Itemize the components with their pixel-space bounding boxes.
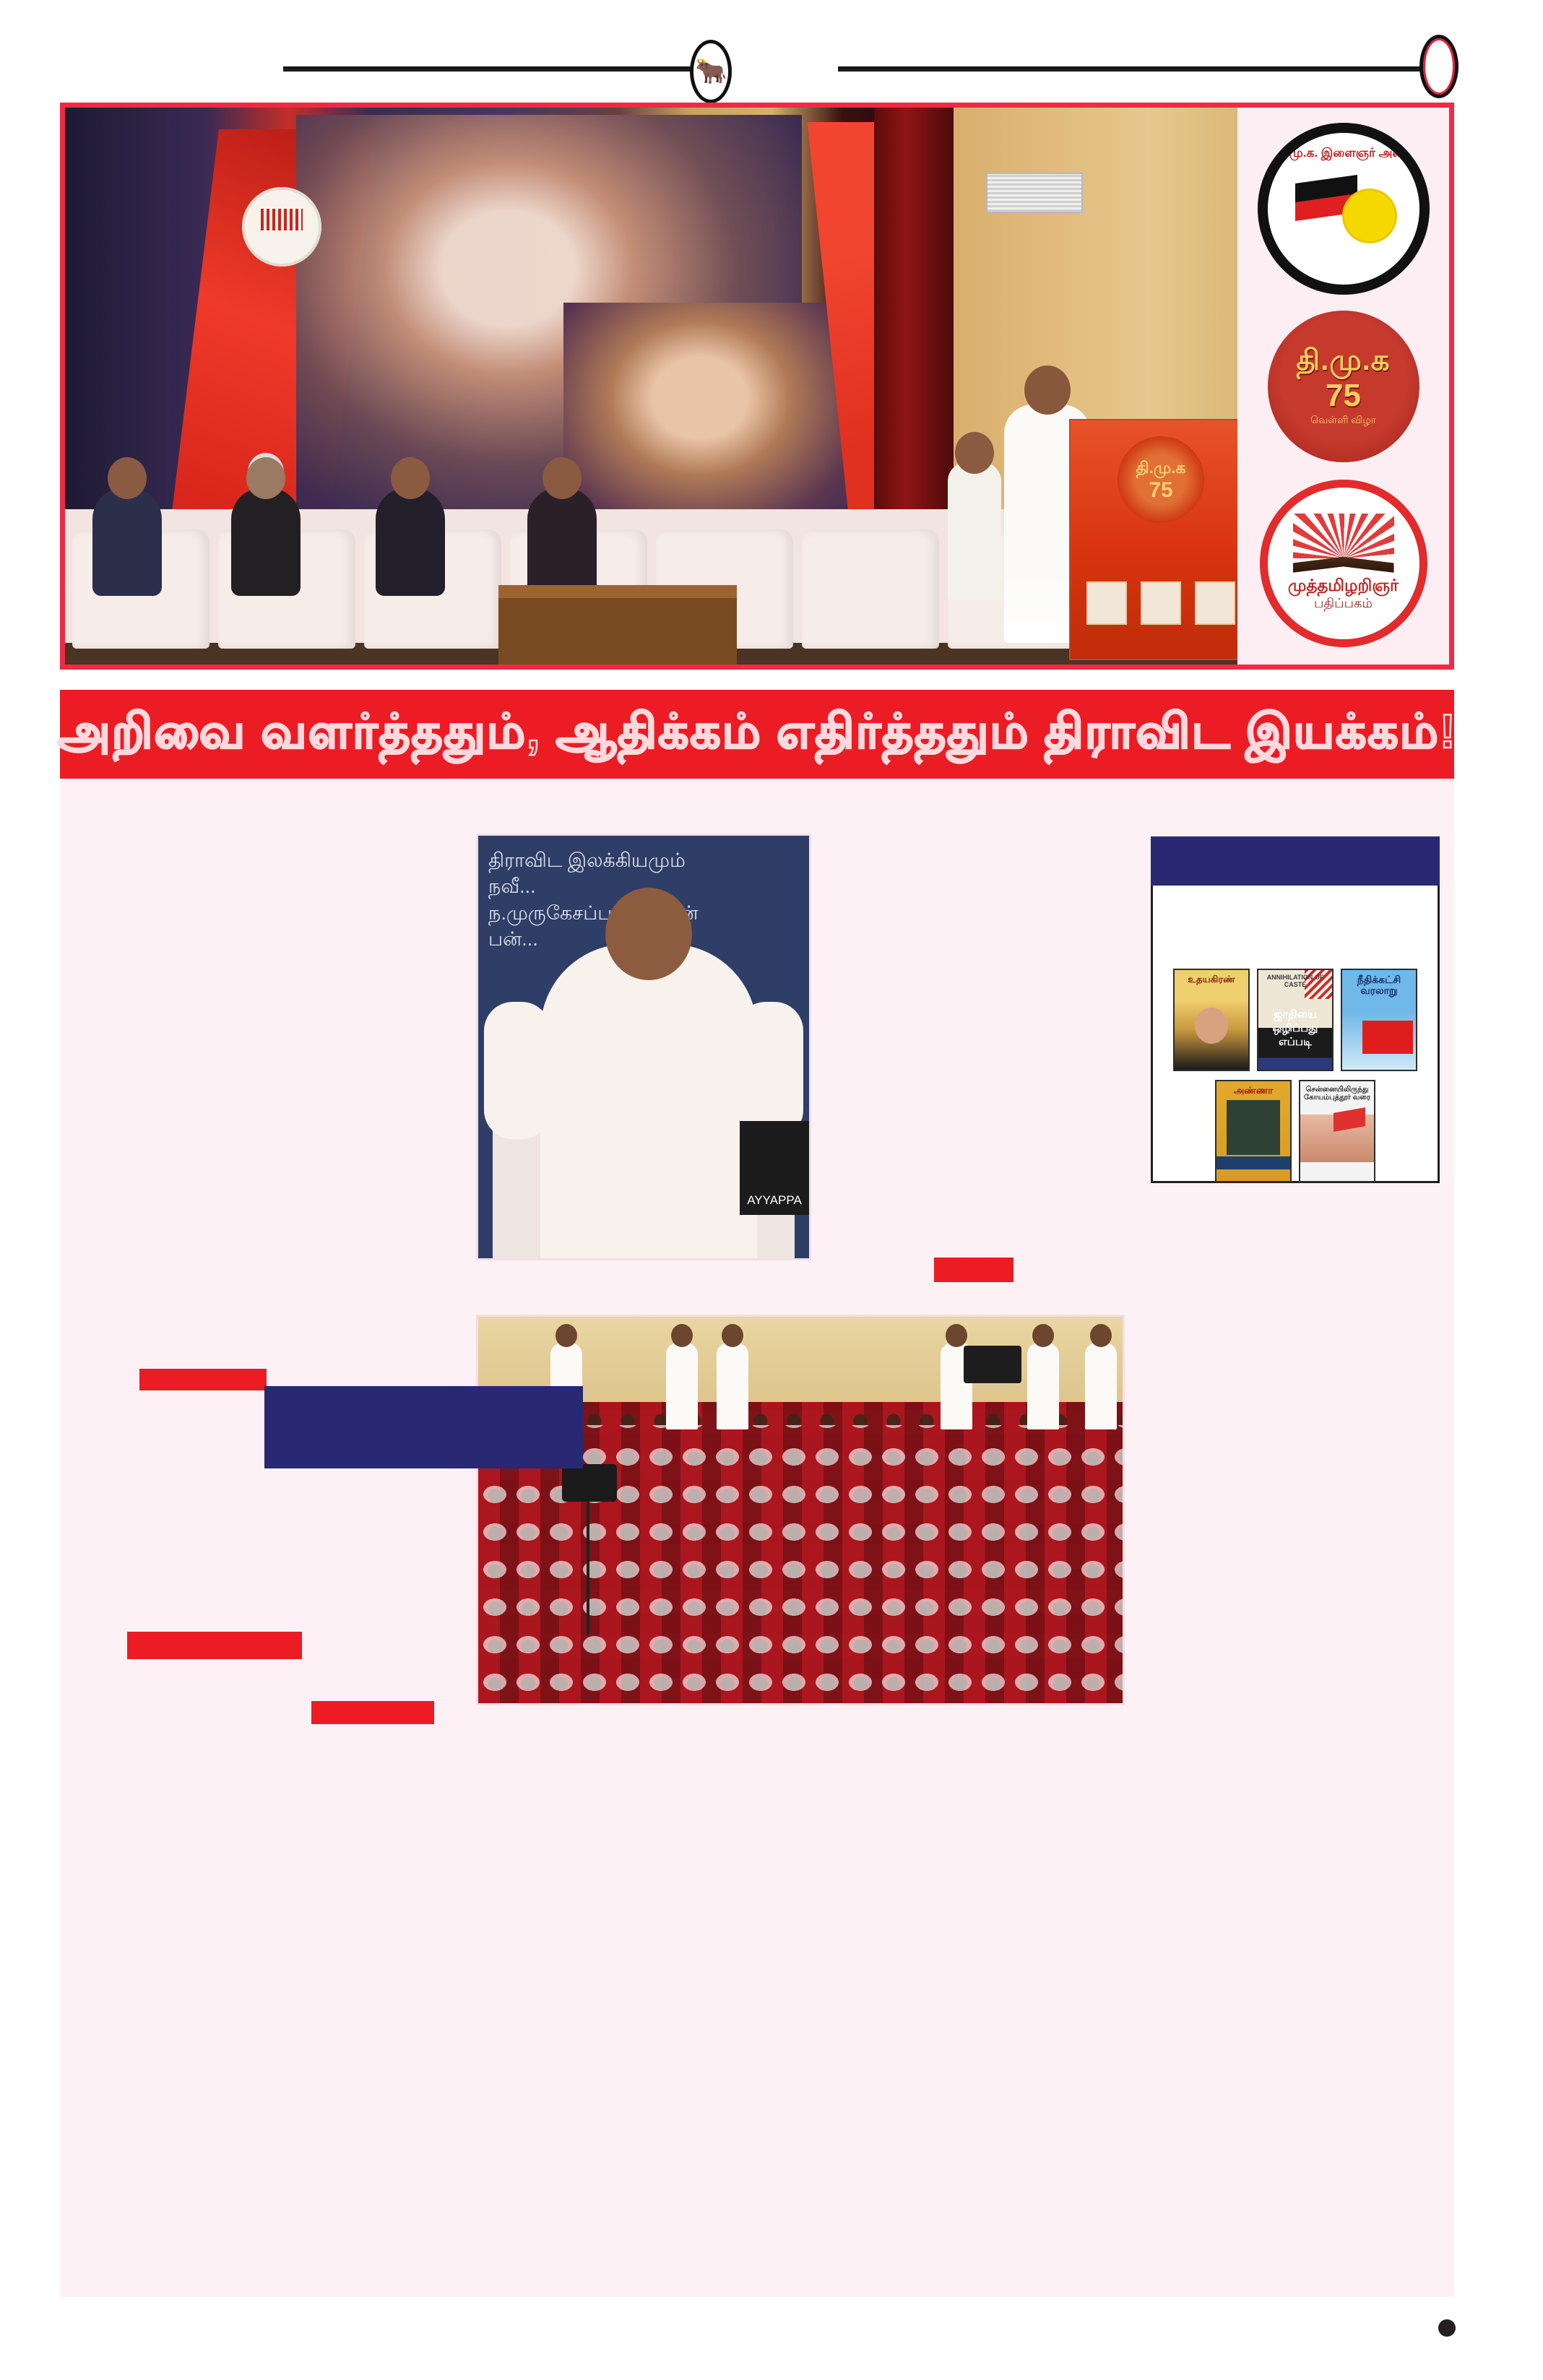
- book-title: உதயகிரண்: [1175, 974, 1248, 985]
- dmk-youth-wing-logo: தி.மு.க. இளைஞர் அணி: [1268, 133, 1419, 285]
- page-marker-dot: [1438, 2319, 1456, 2337]
- ac-vent-icon: [986, 173, 1083, 213]
- book-cover-image: [1227, 1100, 1280, 1155]
- stage-side-panel: AYYAPPA: [740, 1121, 809, 1215]
- photo-audience: [476, 1315, 1125, 1705]
- masthead-photo-frame: தி.மு.க 75 தி.மு.க. இளைஞர் அணி தி.மு.க 7…: [60, 103, 1454, 670]
- book-promo-card-header: [1151, 836, 1440, 886]
- dmk-75-logo-line3: வெள்ளி விழா: [1310, 414, 1376, 428]
- podium-emblem-line2: 75: [1149, 480, 1172, 501]
- standing-attendee: [1085, 1343, 1117, 1429]
- book-subtitle-strip: [1216, 1156, 1290, 1169]
- podium-emblem-line1: தி.மு.க: [1136, 459, 1186, 480]
- seated-dignitary: [527, 488, 597, 596]
- book-cover-row: அண்ணா சென்னையிலிருந்து கோயம்புத்தூர் வரை: [1153, 1080, 1438, 1182]
- book-cover-portrait: [1195, 1008, 1228, 1044]
- book-title: நீதிக்கட்சி வரலாறு: [1342, 974, 1416, 997]
- seated-dignitary: [92, 488, 162, 596]
- standing-attendee: [666, 1343, 698, 1429]
- publisher-logo-line1: முத்தமிழறிஞர்: [1268, 576, 1419, 597]
- podium-sponsor-logos: [1079, 581, 1242, 626]
- dmk-youth-wing-logo-text: தி.மு.க. இளைஞர் அணி: [1268, 146, 1419, 162]
- red-text-block-1: [934, 1258, 1013, 1282]
- backdrop-round-logo-icon: [242, 187, 321, 267]
- seated-person: [540, 944, 757, 1260]
- book-title: ANNIHILATION OF CASTE: [1258, 974, 1332, 989]
- red-flag-icon: [1362, 1021, 1413, 1054]
- book-cover-row: உதயகிரண் ANNIHILATION OF CASTE ஜாதியை ஒழ…: [1153, 969, 1438, 1071]
- stage-chair: [802, 529, 939, 649]
- sun-rays-icon: [1293, 514, 1394, 558]
- header-end-ornament-icon: [1419, 35, 1458, 98]
- headline-text: அறிவை வளர்த்ததும், ஆதிக்கம் எதிர்த்ததும்…: [57, 704, 1456, 766]
- podium-sponsor-logo-icon: [1141, 581, 1181, 625]
- red-text-block-2: [139, 1369, 267, 1390]
- armchair-arm-right: [737, 1002, 803, 1139]
- book-cover[interactable]: நீதிக்கட்சி வரலாறு: [1341, 969, 1417, 1071]
- publisher-logo-line2: பதிப்பகம்: [1268, 596, 1419, 613]
- dmk-75-logo: தி.மு.க 75 வெள்ளி விழா: [1268, 311, 1419, 462]
- blue-text-block-1: [264, 1386, 583, 1468]
- book-title: சென்னையிலிருந்து கோயம்புத்தூர் வரை: [1300, 1086, 1374, 1102]
- rising-sun-icon: [1344, 191, 1395, 241]
- dmk-75-logo-line1: தி.மு.க: [1297, 345, 1391, 381]
- newspaper-page: 🐂: [0, 0, 1543, 2380]
- standing-attendee: [1027, 1343, 1059, 1429]
- podium-sponsor-logo-icon: [1195, 581, 1235, 625]
- ceiling-speaker-icon: [964, 1346, 1021, 1383]
- book-promo-card: உதயகிரண் ANNIHILATION OF CASTE ஜாதியை ஒழ…: [1151, 836, 1440, 1183]
- book-cover[interactable]: அண்ணா: [1215, 1080, 1292, 1182]
- stage-side-panel-text: AYYAPPA: [747, 1193, 802, 1208]
- photo-seated-dignitary: திராவிட இலக்கியமும் நவீ... ந.முருகேசப்பா…: [476, 834, 811, 1260]
- stage-curtain: [874, 108, 954, 512]
- masthead-photo: தி.மு.க 75: [65, 108, 1242, 665]
- red-text-block-4: [311, 1701, 434, 1724]
- header-rule-right: [838, 66, 1438, 72]
- muthamizharignar-pathippagam-logo: முத்தமிழறிஞர் பதிப்பகம்: [1268, 488, 1419, 639]
- book-cover[interactable]: உதயகிரண்: [1173, 969, 1250, 1071]
- book-title: அண்ணா: [1216, 1086, 1290, 1096]
- article-body: திராவிட இலக்கியமும் நவீ... ந.முருகேசப்பா…: [60, 779, 1454, 2297]
- headline-banner: அறிவை வளர்த்ததும், ஆதிக்கம் எதிர்த்ததும்…: [60, 690, 1454, 779]
- book-cover[interactable]: சென்னையிலிருந்து கோயம்புத்தூர் வரை: [1299, 1080, 1375, 1182]
- masthead-logo-column: தி.மு.க. இளைஞர் அணி தி.மு.க 75 வெள்ளி வி…: [1237, 108, 1449, 665]
- camera-tripod-icon: [587, 1497, 589, 1635]
- standing-attendee: [948, 462, 1001, 600]
- page-top-ornament-bar: 🐂: [0, 0, 1543, 98]
- book-cover[interactable]: ANNIHILATION OF CASTE ஜாதியை ஒழிப்பது எப…: [1257, 969, 1334, 1071]
- red-text-block-3: [127, 1632, 302, 1659]
- bull-glyph: 🐂: [695, 59, 727, 84]
- stage-table: [498, 585, 737, 665]
- book-cover-grid: உதயகிரண் ANNIHILATION OF CASTE ஜாதியை ஒழ…: [1153, 969, 1438, 1182]
- seated-dignitary: [231, 488, 301, 596]
- open-book-icon: [1293, 557, 1394, 573]
- podium-sponsor-logo-icon: [1086, 581, 1127, 625]
- bull-emblem-icon: 🐂: [690, 40, 732, 103]
- armchair-arm-left: [484, 1002, 550, 1139]
- backdrop-portrait-secondary: [563, 303, 867, 541]
- podium-emblem: தி.மு.க 75: [1118, 436, 1204, 523]
- backdrop-text-line: திராவிட இலக்கியமும்: [488, 847, 802, 873]
- standing-attendee: [717, 1343, 748, 1429]
- book-subtitle: ஜாதியை ஒழிப்பது எப்படி: [1258, 1008, 1332, 1050]
- dmk-75-logo-line2: 75: [1326, 381, 1361, 411]
- header-rule-left: [283, 66, 717, 72]
- podium: தி.மு.க 75: [1069, 419, 1242, 660]
- seated-dignitary: [376, 488, 445, 596]
